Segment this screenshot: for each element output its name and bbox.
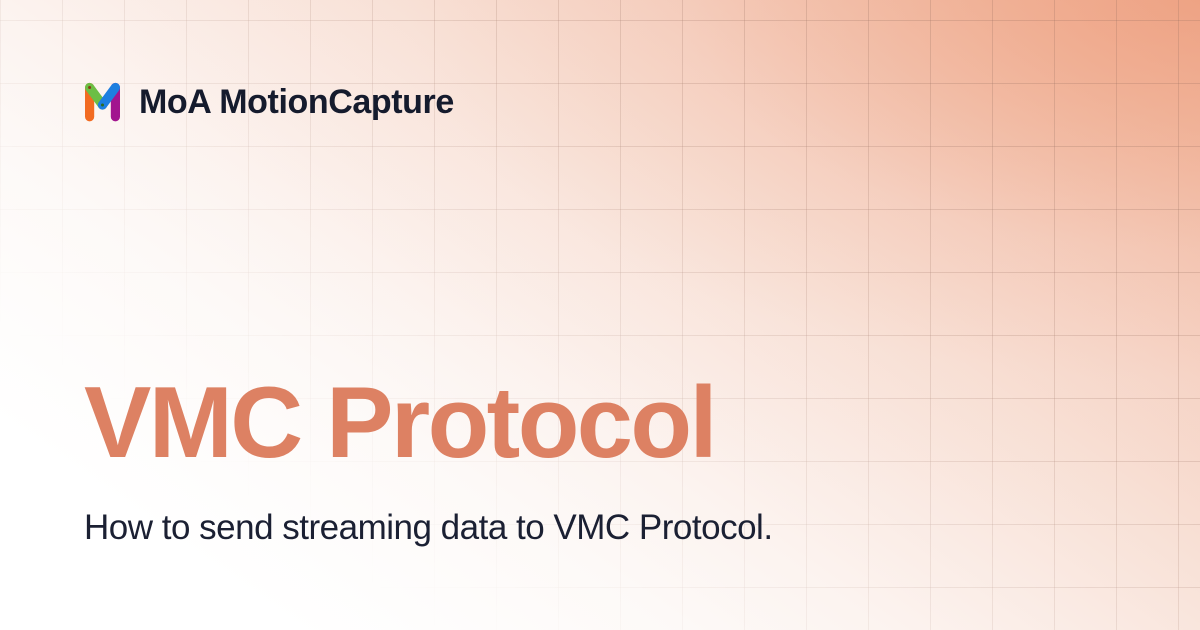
og-card: MoA MotionCapture VMC Protocol How to se…: [0, 0, 1200, 630]
moa-m-logo-icon: [85, 82, 120, 122]
brand-name: MoA MotionCapture: [139, 85, 454, 119]
page-title: VMC Protocol: [84, 373, 715, 474]
brand-lockup: MoA MotionCapture: [85, 82, 454, 122]
page-subtitle: How to send streaming data to VMC Protoc…: [84, 507, 773, 549]
card-content: MoA MotionCapture VMC Protocol How to se…: [0, 0, 1200, 630]
